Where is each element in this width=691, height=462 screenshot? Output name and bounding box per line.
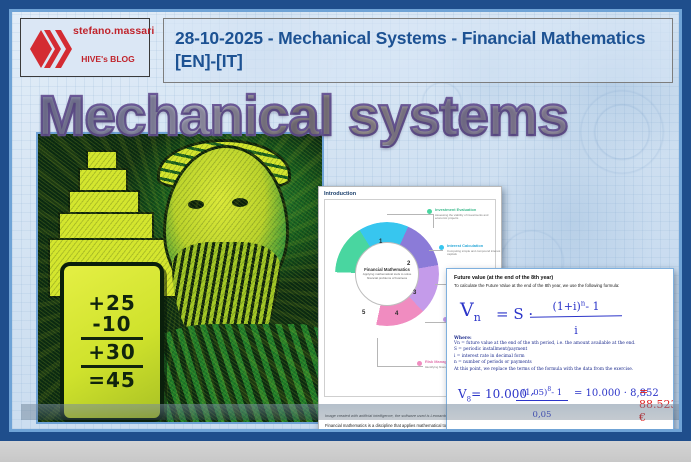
formula-closing: At this point, we replace the terms of t… (454, 367, 666, 373)
future-value-formula: Vn = S · (1+i)n- 1 i (454, 291, 666, 335)
segment-label-4: 4 (395, 311, 398, 317)
tablet-line-1: +25 (88, 293, 136, 315)
legend-item-2: Interest Calculation Computing simple an… (447, 244, 502, 257)
legend-desc-1: Assessing the viability of investments a… (435, 214, 497, 222)
donut-center-label: Financial Mathematics Applying mathemati… (355, 242, 419, 306)
blog-label: HIVE's BLOG (71, 54, 145, 64)
post-title: 28-10-2025 - Mechanical Systems - Financ… (175, 27, 662, 74)
doc-intro-heading: Introduction (324, 191, 496, 197)
legend-desc-2: Computing simple and compound interest o… (447, 250, 502, 258)
legend-dot-5 (417, 361, 422, 366)
author-badge: stefano.massari HIVE's BLOG (20, 18, 150, 77)
formula-numerator: (1+i)n- 1 (552, 300, 599, 313)
poster-frame: stefano.massari HIVE's BLOG 28-10-2025 -… (0, 0, 691, 441)
formula-heading: Future value (at the end of the 8th year… (454, 275, 666, 281)
segment-label-1: 1 (379, 239, 382, 245)
fraction-bar (530, 315, 622, 318)
math-tablet: +25 -10 +30 =45 (60, 262, 164, 422)
formula-denominator: i (574, 324, 578, 337)
formula-operator: = S · (496, 305, 533, 323)
donut-chart: Financial Mathematics Applying mathemati… (335, 222, 439, 326)
legend-dot-1 (427, 209, 432, 214)
tablet-line-3: +30 (88, 342, 136, 364)
scholar-illustration: +25 -10 +30 =45 (36, 132, 324, 424)
calc-fraction-bar (516, 400, 568, 401)
legend-item-1: Investment Evaluation Assessing the viab… (435, 208, 497, 221)
legend-label-2: Interest Calculation (447, 244, 502, 249)
tablet-line-4: =45 (88, 370, 136, 392)
segment-label-5: 5 (362, 310, 365, 316)
legend-label-1: Investment Evaluation (435, 208, 497, 213)
hive-logo-icon (30, 30, 74, 68)
title-panel: 28-10-2025 - Mechanical Systems - Financ… (163, 18, 673, 83)
page-bottom-strip (0, 441, 691, 462)
formula-fraction: (1+i)n- 1 i (530, 295, 622, 338)
poster-inner: stefano.massari HIVE's BLOG 28-10-2025 -… (9, 9, 682, 432)
legend-dot-2 (439, 245, 444, 250)
tablet-line-2: -10 (92, 314, 131, 336)
segment-label-2: 2 (407, 261, 410, 267)
segment-label-3: 3 (413, 290, 416, 296)
chart-center-desc: Applying mathematical tools to solve fin… (358, 273, 416, 281)
formula-intro: To calculate the Future Value at the end… (454, 283, 666, 288)
formula-lhs: Vn (460, 299, 481, 324)
bottom-shadow-bar (21, 404, 682, 420)
author-name: stefano.massari (73, 25, 145, 37)
calc-numerator: (1,05)8- 1 (522, 388, 562, 398)
